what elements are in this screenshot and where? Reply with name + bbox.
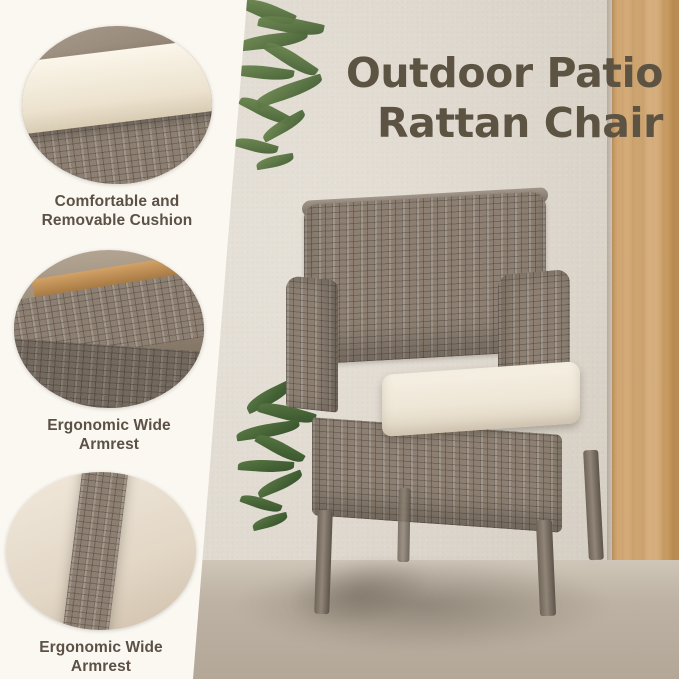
armrest-caption-line2: Armrest: [14, 436, 204, 455]
product-title: Outdoor Patio Rattan Chair: [263, 48, 663, 148]
product-title-line2: Rattan Chair: [263, 98, 663, 148]
leg-caption-line2: Armrest: [6, 658, 196, 677]
feature-callout-cushion: Comfortable and Removable Cushion: [22, 26, 212, 231]
cushion-closeup-photo: [22, 26, 212, 184]
cushion-caption: Comfortable and Removable Cushion: [22, 193, 212, 231]
armrest-caption-line1: Ergonomic Wide: [14, 417, 204, 436]
armrest-caption: Ergonomic Wide Armrest: [14, 417, 204, 455]
chair-seat-cushion: [382, 361, 580, 437]
cushion-caption-line2: Removable Cushion: [22, 212, 212, 231]
feature-callout-leg: Ergonomic Wide Armrest: [6, 472, 196, 677]
product-title-line1: Outdoor Patio: [263, 48, 663, 98]
product-image-canvas: Comfortable and Removable Cushion Ergono…: [0, 0, 679, 679]
chair-seat-front-panel: [312, 417, 562, 532]
leg-closeup-photo: [6, 472, 196, 630]
armrest-closeup-photo: [14, 250, 204, 408]
feature-callout-armrest: Ergonomic Wide Armrest: [14, 250, 204, 455]
rattan-chair: [286, 198, 628, 616]
chair-left-armrest: [286, 275, 338, 412]
leg-caption-line1: Ergonomic Wide: [6, 639, 196, 658]
chair-leg-back-left: [397, 488, 410, 562]
chair-leg-front-right: [536, 520, 556, 617]
chair-leg-front-left: [314, 510, 333, 614]
leg-caption: Ergonomic Wide Armrest: [6, 639, 196, 677]
cushion-caption-line1: Comfortable and: [22, 193, 212, 212]
chair-leg-back-right: [583, 450, 604, 561]
